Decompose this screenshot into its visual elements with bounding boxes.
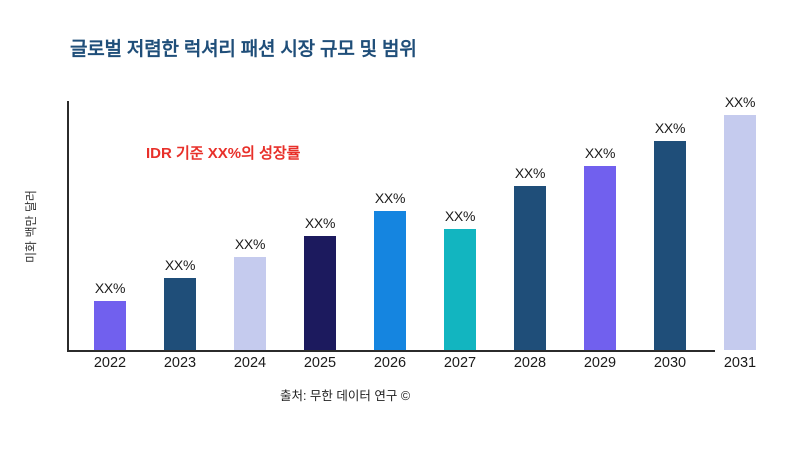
bar-group: XX%	[635, 120, 705, 350]
bar-2027[interactable]	[444, 229, 476, 350]
bar-group: XX%	[355, 190, 425, 350]
bar-2026[interactable]	[374, 211, 406, 350]
bar-group: XX%	[705, 94, 775, 350]
bar-group: XX%	[215, 236, 285, 350]
x-tick-2023: 2023	[145, 355, 215, 371]
bar-group: XX%	[75, 280, 145, 350]
bar-group: XX%	[495, 165, 565, 350]
bar-value-label: XX%	[725, 94, 755, 110]
bar-value-label: XX%	[655, 120, 685, 136]
bar-value-label: XX%	[515, 165, 545, 181]
bar-value-label: XX%	[375, 190, 405, 206]
bar-2029[interactable]	[584, 166, 616, 350]
x-tick-2028: 2028	[495, 355, 565, 371]
y-axis-label-container: 미화 백만 달러	[0, 101, 60, 352]
bar-value-label: XX%	[445, 208, 475, 224]
bar-2025[interactable]	[304, 236, 336, 350]
bar-2024[interactable]	[234, 257, 266, 350]
x-tick-2025: 2025	[285, 355, 355, 371]
bar-value-label: XX%	[95, 280, 125, 296]
x-tick-2022: 2022	[75, 355, 145, 371]
bar-2022[interactable]	[94, 301, 126, 350]
y-axis-label: 미화 백만 달러	[22, 190, 39, 263]
page-title: 글로벌 저렴한 럭셔리 패션 시장 규모 및 범위	[70, 34, 417, 61]
source-note: 출처: 무한 데이터 연구 ©	[0, 385, 690, 404]
bar-value-label: XX%	[165, 257, 195, 273]
plot-area: XX%XX%XX%XX%XX%XX%XX%XX%XX%XX%	[67, 101, 800, 352]
bar-2030[interactable]	[654, 141, 686, 350]
x-tick-2026: 2026	[355, 355, 425, 371]
bar-group: XX%	[565, 145, 635, 350]
growth-rate-annotation: IDR 기준 XX%의 성장률	[146, 142, 300, 163]
x-tick-2029: 2029	[565, 355, 635, 371]
chart-container: 글로벌 저렴한 럭셔리 패션 시장 규모 및 범위 미화 백만 달러 XX%XX…	[0, 0, 800, 450]
bar-value-label: XX%	[585, 145, 615, 161]
x-tick-2030: 2030	[635, 355, 705, 371]
x-tick-2031: 2031	[705, 355, 775, 371]
x-tick-2027: 2027	[425, 355, 495, 371]
x-tick-2024: 2024	[215, 355, 285, 371]
bar-2031[interactable]	[724, 115, 756, 350]
bar-series: XX%XX%XX%XX%XX%XX%XX%XX%XX%XX%	[67, 101, 800, 352]
bar-group: XX%	[425, 208, 495, 350]
bar-value-label: XX%	[235, 236, 265, 252]
bar-group: XX%	[285, 215, 355, 350]
bar-2023[interactable]	[164, 278, 196, 350]
bar-value-label: XX%	[305, 215, 335, 231]
bar-group: XX%	[145, 257, 215, 350]
x-axis-tick-labels: 2022202320242025202620272028202920302031	[67, 355, 800, 379]
bar-2028[interactable]	[514, 186, 546, 350]
